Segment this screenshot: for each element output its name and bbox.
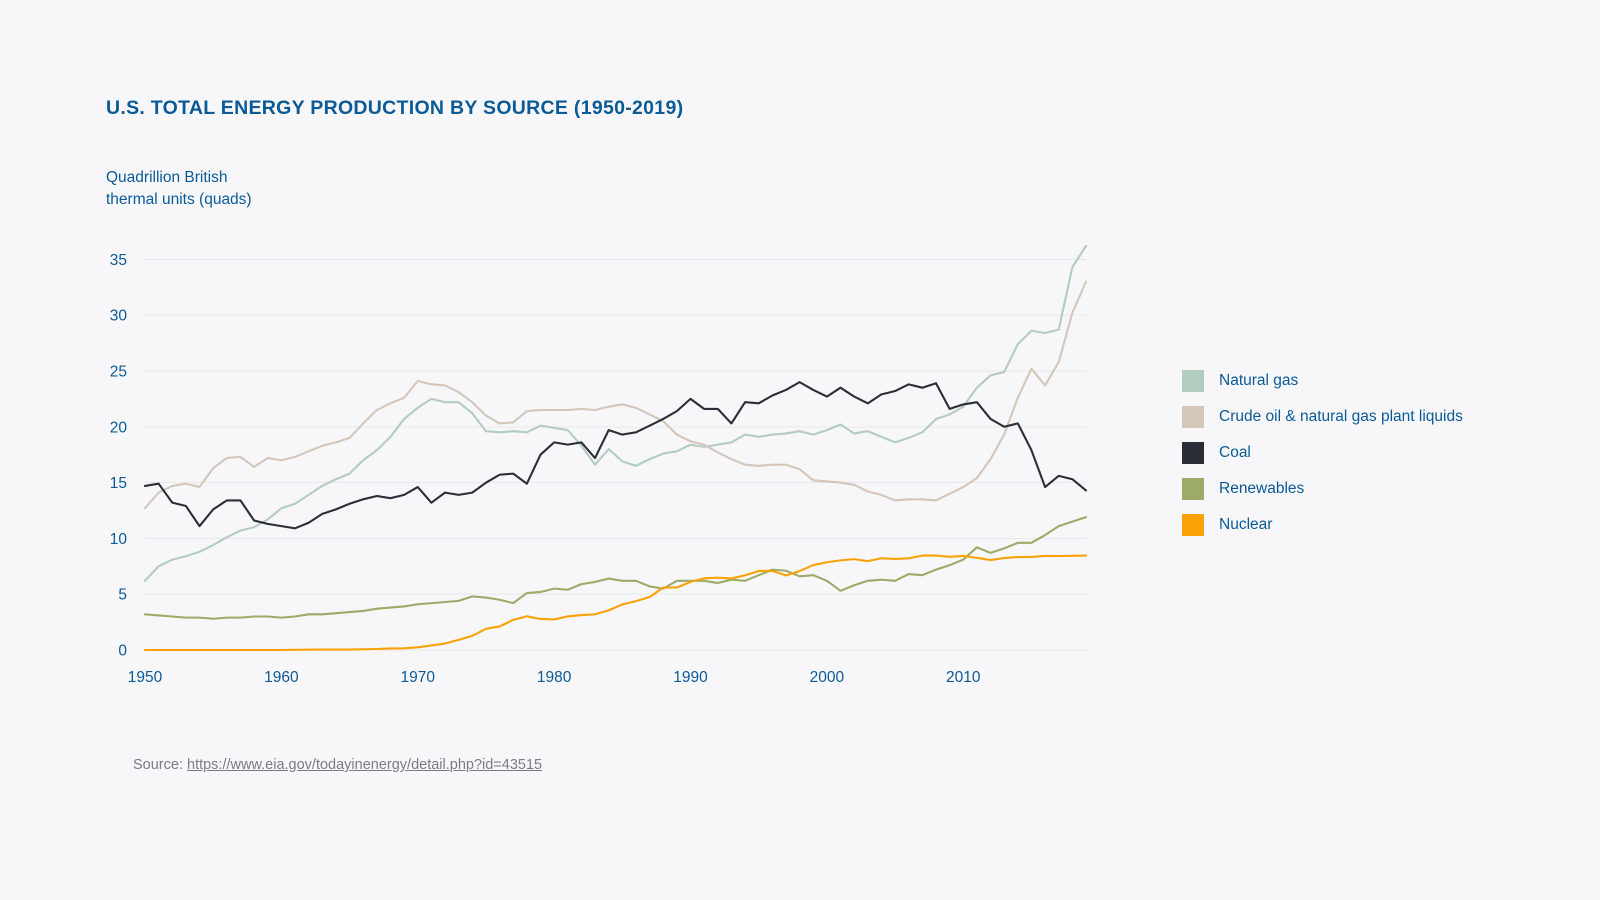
series-line-crude-oil-natural-gas-plant-liquids xyxy=(145,282,1086,509)
y-axis-tick-label: 10 xyxy=(110,531,128,548)
x-axis-tick-label: 1970 xyxy=(401,669,436,686)
series-line-natural-gas xyxy=(145,246,1086,581)
chart-page: U.S. TOTAL ENERGY PRODUCTION BY SOURCE (… xyxy=(0,0,1600,900)
x-axis-tick-labels: 1950196019701980199020002010 xyxy=(128,669,981,686)
x-axis-tick-label: 1960 xyxy=(264,669,299,686)
source-prefix: Source: xyxy=(133,757,187,773)
legend-color-swatch xyxy=(1182,442,1204,464)
x-axis-tick-label: 2000 xyxy=(810,669,845,686)
series-lines xyxy=(145,246,1086,650)
legend-item-label: Nuclear xyxy=(1219,516,1272,534)
legend-item[interactable]: Crude oil & natural gas plant liquids xyxy=(1182,399,1502,435)
legend-color-swatch xyxy=(1182,406,1204,428)
source-link[interactable]: https://www.eia.gov/todayinenergy/detail… xyxy=(187,757,542,773)
y-axis-tick-label: 25 xyxy=(110,363,127,380)
legend-item-label: Coal xyxy=(1219,444,1251,462)
legend-item-label: Renewables xyxy=(1219,480,1304,498)
y-axis-tick-label: 15 xyxy=(110,475,127,492)
y-axis-tick-label: 0 xyxy=(118,643,127,660)
y-axis-tick-label: 5 xyxy=(118,587,127,604)
series-line-nuclear xyxy=(145,556,1086,650)
legend-item[interactable]: Coal xyxy=(1182,435,1502,471)
legend-color-swatch xyxy=(1182,514,1204,536)
legend-item[interactable]: Natural gas xyxy=(1182,363,1502,399)
legend-color-swatch xyxy=(1182,478,1204,500)
legend-item-label: Crude oil & natural gas plant liquids xyxy=(1219,408,1463,426)
y-axis-tick-label: 35 xyxy=(110,252,127,269)
x-axis-tick-label: 1980 xyxy=(537,669,572,686)
legend-color-swatch xyxy=(1182,370,1204,392)
y-axis-tick-label: 20 xyxy=(110,419,128,436)
y-axis-tick-labels: 05101520253035 xyxy=(110,252,128,660)
x-axis-tick-label: 1990 xyxy=(673,669,708,686)
legend: Natural gasCrude oil & natural gas plant… xyxy=(1182,363,1502,543)
legend-item-label: Natural gas xyxy=(1219,372,1298,390)
y-axis-tick-label: 30 xyxy=(110,308,128,325)
x-axis-tick-label: 1950 xyxy=(128,669,163,686)
source-caption: Source: https://www.eia.gov/todayinenerg… xyxy=(133,757,542,773)
x-axis-tick-label: 2010 xyxy=(946,669,981,686)
legend-item[interactable]: Renewables xyxy=(1182,471,1502,507)
series-line-renewables xyxy=(145,517,1086,619)
legend-item[interactable]: Nuclear xyxy=(1182,507,1502,543)
